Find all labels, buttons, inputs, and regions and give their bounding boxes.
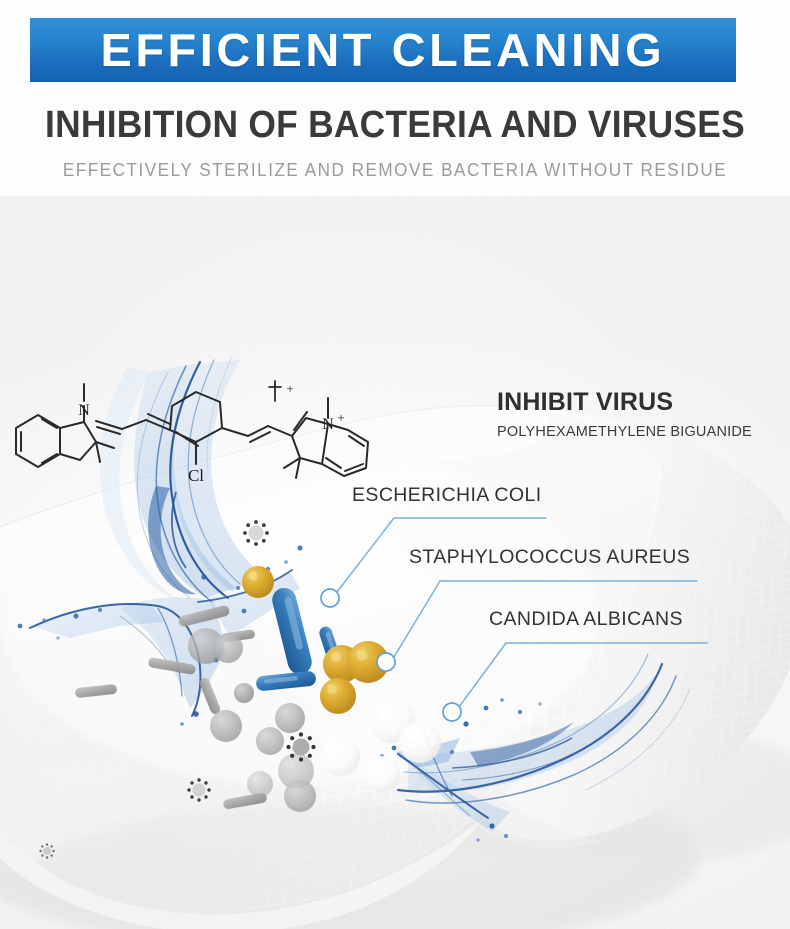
callout-label-staphylococcus-aureus: STAPHYLOCOCCUS AUREUS <box>409 546 690 569</box>
page-subheadline: EFFECTIVELY STERILIZE AND REMOVE BACTERI… <box>20 160 771 181</box>
banner-title: EFFICIENT CLEANING <box>101 27 666 73</box>
header-banner: EFFICIENT CLEANING <box>30 18 736 82</box>
callout-label-candida-albicans: CANDIDA ALBICANS <box>489 608 683 631</box>
infographic-page: EFFICIENT CLEANING INHIBITION OF BACTERI… <box>0 0 790 929</box>
page-headline: INHIBITION OF BACTERIA AND VIRUSES <box>28 104 763 147</box>
callout-label-escherichia-coli: ESCHERICHIA COLI <box>352 484 542 507</box>
ingredient-subtitle: POLYHEXAMETHYLENE BIGUANIDE <box>497 424 752 440</box>
ingredient-title: INHIBIT VIRUS <box>497 388 673 417</box>
